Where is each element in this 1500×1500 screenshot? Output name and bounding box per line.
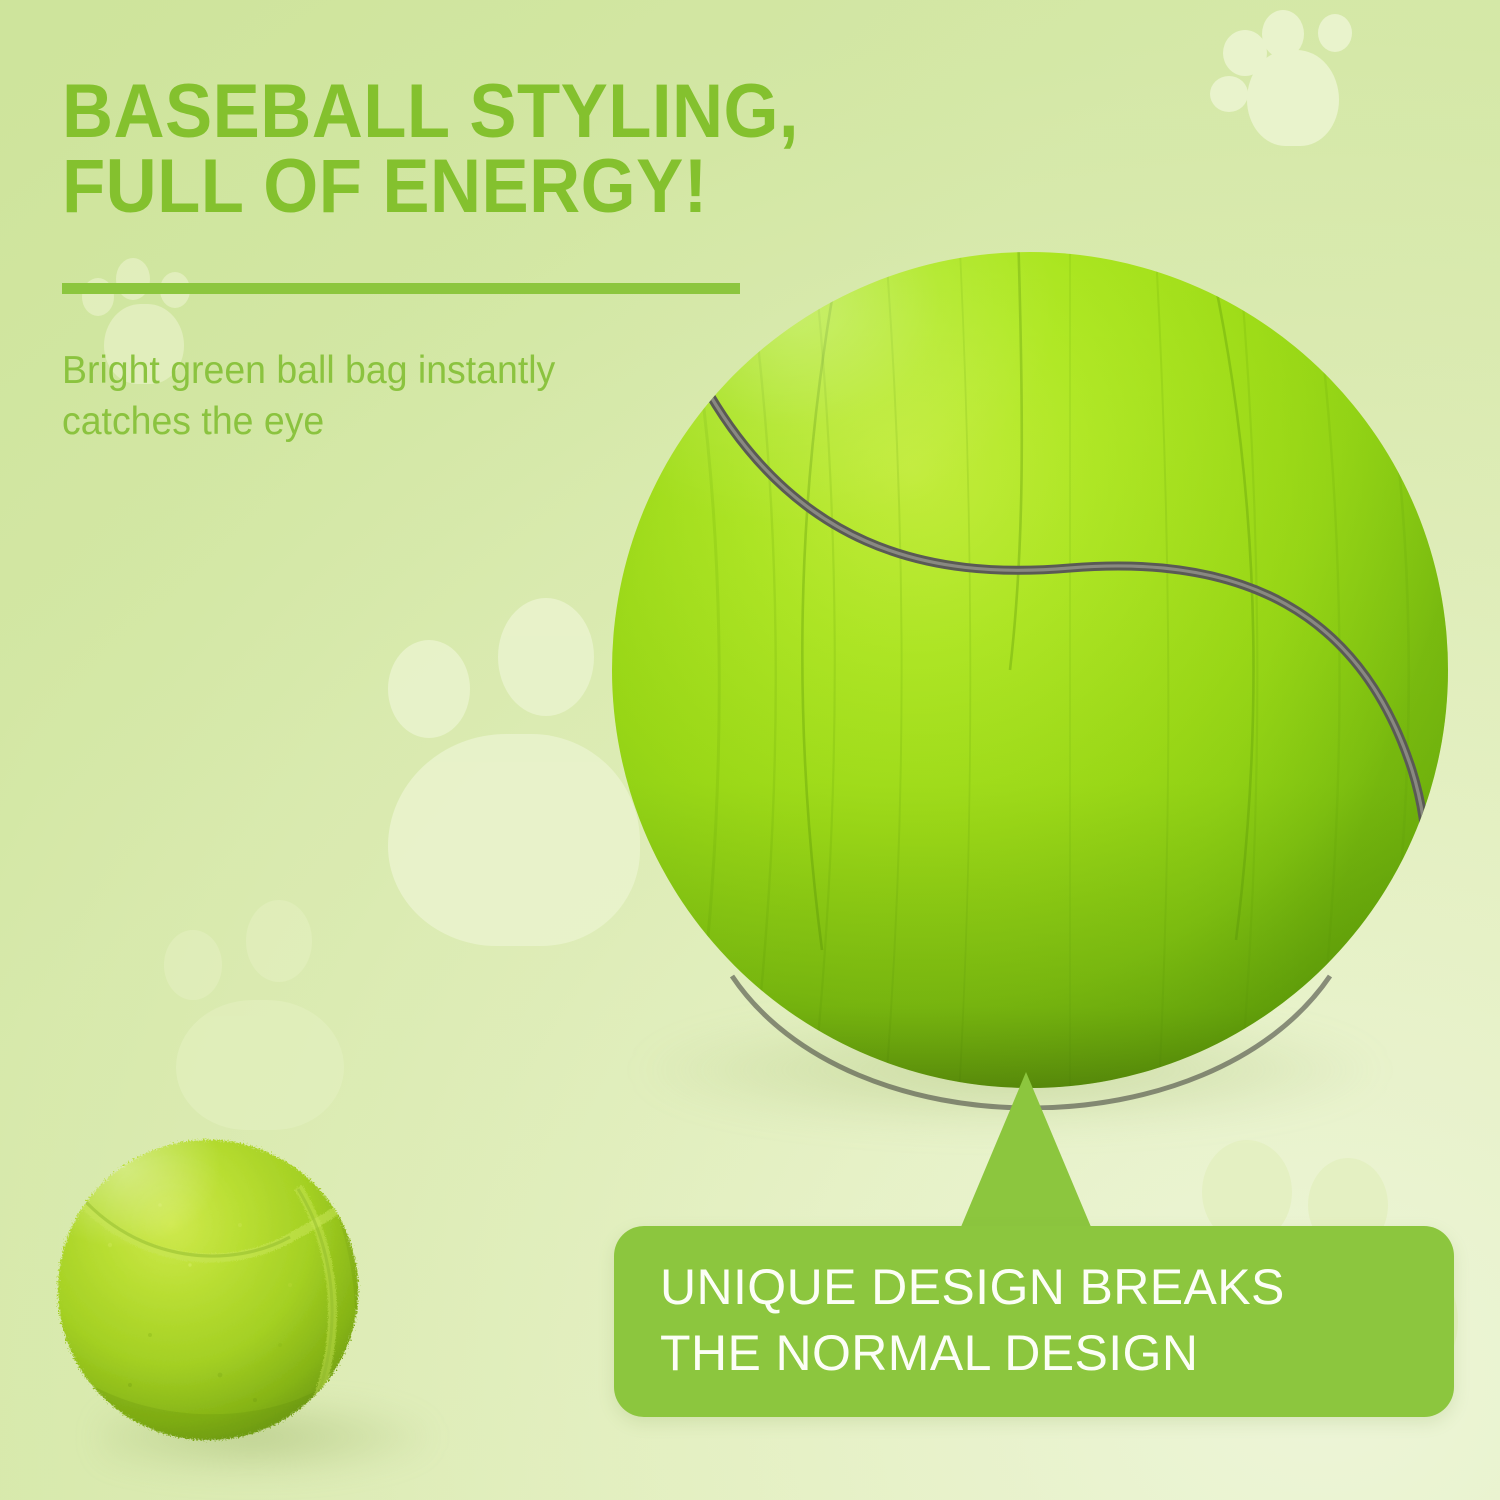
tennis-ball-illustration <box>40 1135 440 1495</box>
reference-tennis-ball <box>40 1135 440 1495</box>
paw-toe <box>388 640 470 738</box>
page-title: BASEBALL STYLING, FULL OF ENERGY! <box>62 74 825 224</box>
paw-print-icon-top-right <box>1210 8 1410 158</box>
paw-toe <box>246 900 312 982</box>
callout-pointer-arrow <box>958 1072 1094 1234</box>
paw-toe <box>1210 76 1248 112</box>
main-product-ball <box>600 250 1460 1110</box>
feature-banner-text: UNIQUE DESIGN BREAKS THE NORMAL DESIGN <box>660 1254 1430 1386</box>
paw-toe <box>164 930 222 1000</box>
paw-print-icon-lower-left <box>150 900 380 1130</box>
paw-toe <box>1318 14 1352 52</box>
paw-main-pad <box>1247 50 1339 146</box>
paw-toe <box>498 598 594 716</box>
feature-banner: UNIQUE DESIGN BREAKS THE NORMAL DESIGN <box>614 1226 1454 1417</box>
big-ball-illustration <box>600 250 1460 1110</box>
product-feature-image: BASEBALL STYLING, FULL OF ENERGY! Bright… <box>0 0 1500 1500</box>
paw-main-pad <box>176 1000 344 1130</box>
